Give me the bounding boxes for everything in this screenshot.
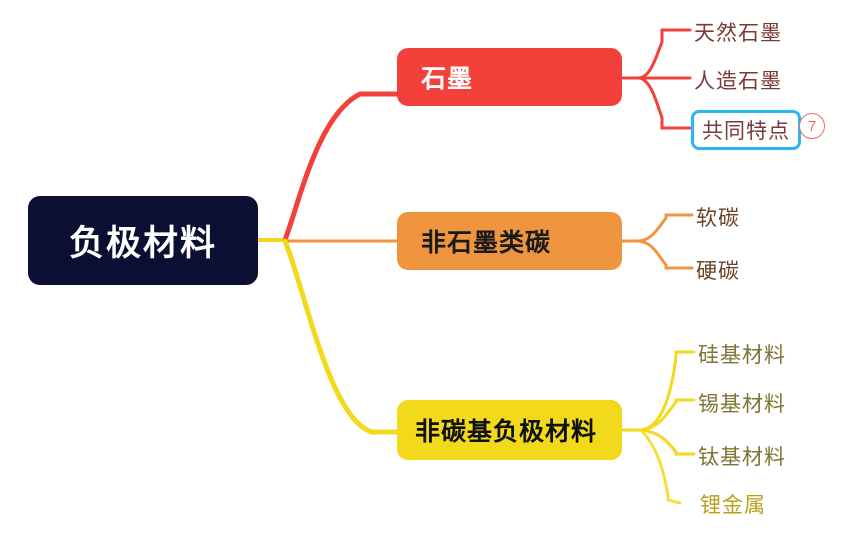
edge-nongraphite-hard [637, 241, 692, 268]
leaf-silicon-based-label: 硅基材料 [698, 339, 786, 369]
leaf-natural-graphite-label: 天然石墨 [694, 17, 782, 47]
edge-graphite-common [638, 78, 690, 128]
leaf-soft-carbon-label: 软碳 [696, 202, 740, 232]
edge-noncarbon-lithium [641, 430, 680, 503]
leaf-titanium-based[interactable]: 钛基材料 [698, 441, 786, 471]
branch-node-noncarbon-anode-label: 非碳基负极材料 [415, 412, 597, 448]
edge-noncarbon-silicon [641, 352, 694, 430]
branch-node-nongraphite-carbon-label: 非石墨类碳 [421, 223, 551, 259]
leaf-common-features[interactable]: 共同特点 [691, 110, 801, 150]
leaf-tin-based[interactable]: 锡基材料 [698, 388, 786, 418]
leaf-lithium-metal[interactable]: 锂金属 [700, 489, 766, 519]
leaf-artificial-graphite[interactable]: 人造石墨 [694, 65, 782, 95]
leaf-lithium-metal-label: 锂金属 [700, 489, 766, 519]
branch-node-noncarbon-anode[interactable]: 非碳基负极材料 [397, 400, 622, 460]
branch-node-graphite-label: 石墨 [421, 59, 473, 95]
edge-noncarbon-titanium [641, 430, 694, 454]
leaf-tin-based-label: 锡基材料 [698, 388, 786, 418]
leaf-natural-graphite[interactable]: 天然石墨 [694, 17, 782, 47]
edge-nongraphite-soft [637, 215, 692, 241]
leaf-silicon-based[interactable]: 硅基材料 [698, 339, 786, 369]
root-node[interactable]: 负极材料 [28, 196, 258, 285]
leaf-hard-carbon-label: 硬碳 [696, 255, 740, 285]
branch-node-graphite[interactable]: 石墨 [397, 48, 622, 106]
branch-node-nongraphite-carbon[interactable]: 非石墨类碳 [397, 212, 622, 270]
leaf-common-features-label: 共同特点 [702, 115, 790, 145]
edge-noncarbon-tin [641, 400, 694, 430]
collapsed-children-count: 7 [808, 118, 816, 135]
leaf-titanium-based-label: 钛基材料 [698, 441, 786, 471]
leaf-soft-carbon[interactable]: 软碳 [696, 202, 740, 232]
leaf-hard-carbon[interactable]: 硬碳 [696, 255, 740, 285]
edge-root-noncarbon [285, 241, 397, 432]
mindmap-canvas: 负极材料 石墨 天然石墨 人造石墨 共同特点 7 非石墨类碳 软碳 硬碳 非碳基… [0, 0, 865, 541]
edge-graphite-natural [638, 30, 690, 78]
edge-root-graphite [285, 94, 397, 240]
leaf-artificial-graphite-label: 人造石墨 [694, 65, 782, 95]
collapsed-children-badge[interactable]: 7 [799, 113, 825, 139]
root-node-label: 负极材料 [69, 215, 217, 266]
